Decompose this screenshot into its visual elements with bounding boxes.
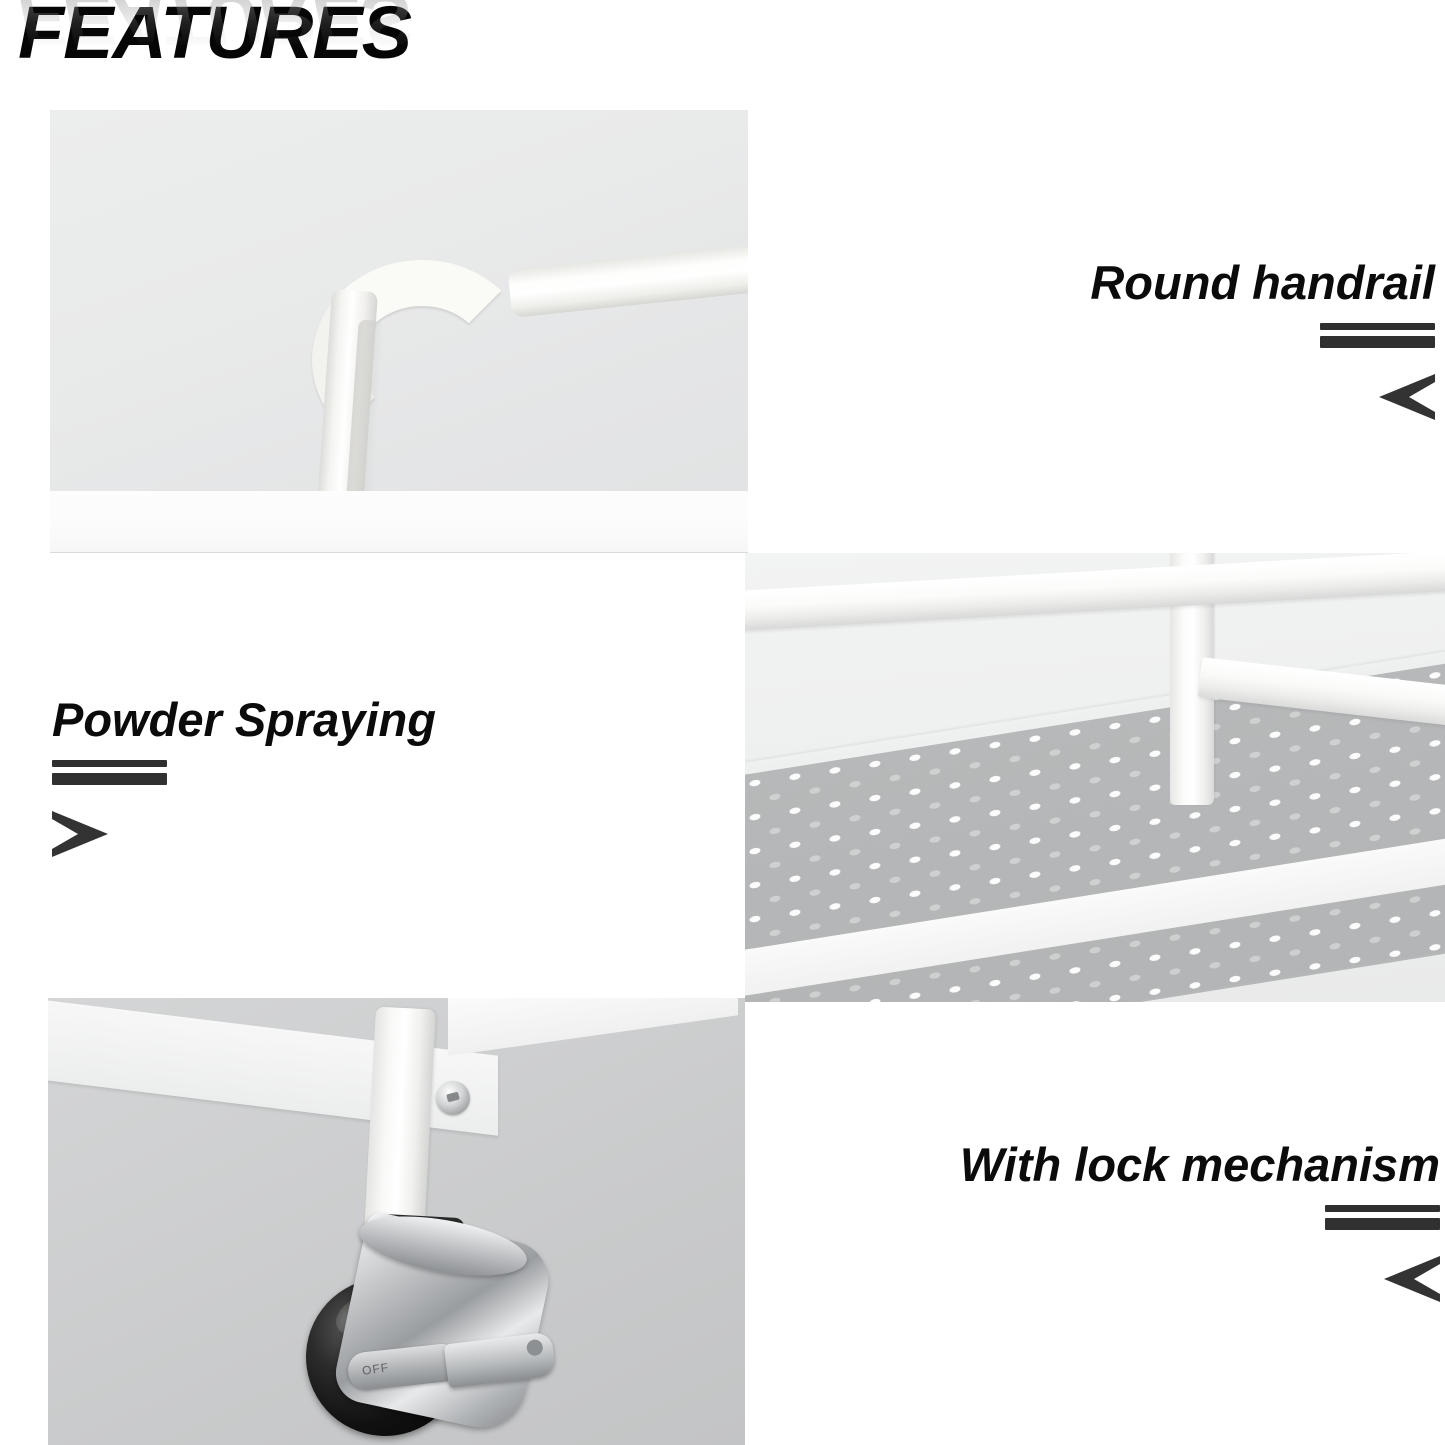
caption-round-handrail: Round handrail — [955, 258, 1435, 420]
caption-divider — [955, 323, 1435, 348]
round-handrail-photo — [50, 110, 748, 553]
photo-background-lower — [50, 491, 748, 553]
divider-bar-thick — [1325, 1218, 1440, 1230]
bottom-shelf-edge-right — [448, 998, 738, 1056]
caster-lock-label: OFF — [361, 1360, 390, 1378]
caption-label: Round handrail — [955, 258, 1435, 307]
arrow-left-icon — [1379, 374, 1435, 420]
arrow-left-icon — [1384, 1256, 1440, 1302]
divider-bar-thin — [52, 760, 167, 767]
caption-label: Powder Spraying — [52, 695, 492, 744]
divider-bar-thick — [52, 773, 167, 785]
guard-rail-back — [745, 553, 1445, 631]
caption-divider — [900, 1205, 1440, 1230]
page-title-block: FEATURES FEATURES — [18, 0, 638, 118]
caption-divider — [52, 760, 492, 785]
arrow-right-icon — [52, 811, 108, 857]
page-title-reflection: FEATURES — [18, 0, 411, 56]
caption-label: With lock mechanism — [900, 1140, 1440, 1189]
divider-bar-thin — [1325, 1205, 1440, 1212]
leg-screw-icon — [436, 1081, 470, 1115]
divider-bar-thick — [1320, 336, 1435, 348]
handrail-horizontal-tube — [507, 239, 748, 318]
perforated-shelf-photo — [745, 553, 1445, 1002]
divider-bar-thin — [1320, 323, 1435, 330]
caption-powder-spraying: Powder Spraying — [52, 695, 492, 857]
features-infographic: FEATURES FEATURES OFF — [0, 0, 1445, 1445]
cart-leg-tube — [364, 1007, 436, 1240]
caption-with-lock-mechanism: With lock mechanism — [900, 1140, 1440, 1302]
caster-wheel-photo: OFF — [48, 998, 745, 1445]
